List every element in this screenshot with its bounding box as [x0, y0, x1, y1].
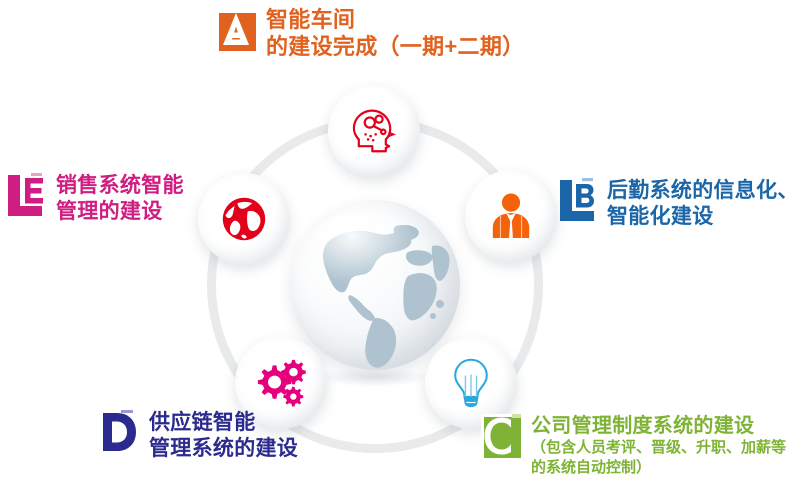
diagram-canvas: 智能车间 的建设完成（一期+二期） 后勤系统的信息化、 智能化建设 公司管理制度…: [0, 0, 800, 493]
center-globe: [290, 200, 460, 370]
node-globe[interactable]: [198, 173, 290, 265]
node-head-gears[interactable]: [328, 85, 420, 177]
label-b-text: 后勤系统的信息化、 智能化建设: [607, 178, 799, 229]
label-a-text: 智能车间 的建设完成（一期+二期）: [266, 7, 524, 61]
label-e: 销售系统智能 管理的建设: [6, 173, 184, 224]
badge-letter-a: [216, 7, 256, 51]
node-businessman[interactable]: [465, 170, 557, 262]
label-d: 供应链智能 管理系统的建设: [99, 410, 298, 461]
label-c-text: 公司管理制度系统的建设（包含人员考评、晋级、升职、加薪等 的系统自动控制）: [531, 414, 786, 477]
world-globe-icon: [290, 200, 460, 370]
label-b: 后勤系统的信息化、 智能化建设: [557, 178, 799, 229]
label-c-subtext: （包含人员考评、晋级、升职、加薪等 的系统自动控制）: [531, 438, 786, 477]
globe-icon: [220, 195, 268, 243]
head-gears-icon: [347, 104, 401, 158]
businessman-icon: [488, 192, 534, 240]
gears-icon: [254, 358, 308, 408]
lightbulb-icon: [450, 357, 492, 409]
label-c: 公司管理制度系统的建设（包含人员考评、晋级、升职、加薪等 的系统自动控制）: [481, 414, 786, 477]
label-a: 智能车间 的建设完成（一期+二期）: [216, 7, 524, 61]
badge-letter-d: [99, 410, 139, 454]
badge-letter-c: [481, 414, 521, 458]
label-d-text: 供应链智能 管理系统的建设: [149, 410, 298, 461]
badge-letter-e: [6, 173, 46, 217]
badge-letter-b: [557, 178, 597, 222]
label-c-main: 公司管理制度系统的建设: [531, 415, 754, 437]
label-e-text: 销售系统智能 管理的建设: [56, 173, 184, 224]
